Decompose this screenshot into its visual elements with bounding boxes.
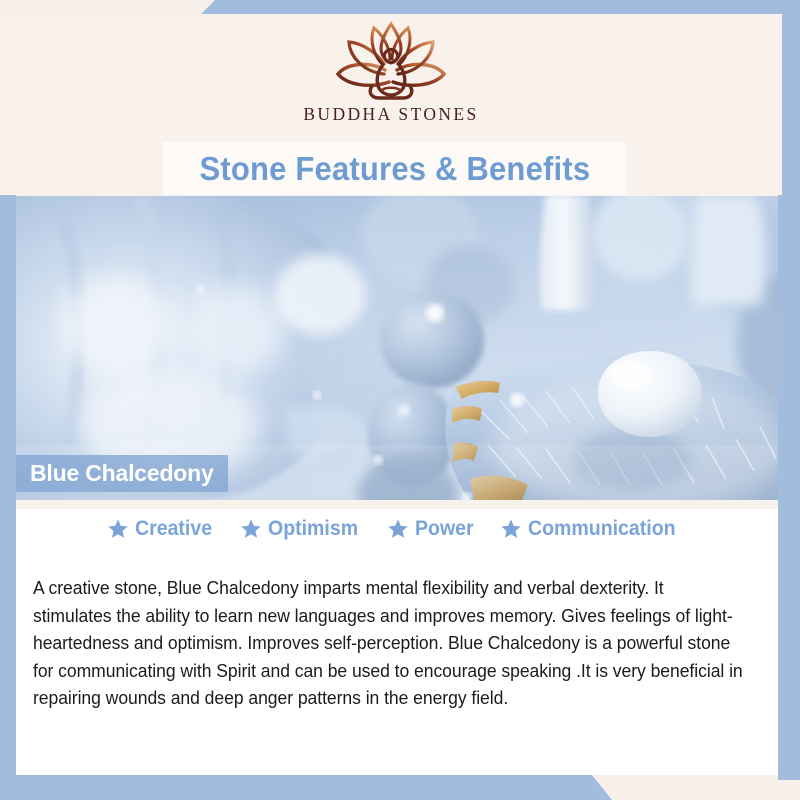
feature-label: Power [415, 517, 474, 541]
features-row: Creative Optimism Power Communication [16, 517, 778, 541]
feature-item-communication: Communication [500, 517, 687, 541]
photo-caption: Blue Chalcedony [30, 460, 214, 487]
right-accent-border [778, 195, 800, 780]
hero-photo: Blue Chalcedony [0, 195, 800, 500]
left-accent-border [0, 195, 16, 780]
feature-label: Optimism [268, 517, 358, 541]
star-icon [240, 518, 262, 540]
star-icon [387, 518, 409, 540]
lotus-meditation-icon [316, 16, 466, 102]
bottom-cream-corner [592, 775, 800, 800]
brand-name: BUDDHA STONES [303, 104, 478, 125]
brand-logo: BUDDHA STONES [0, 16, 782, 138]
stone-description: A creative stone, Blue Chalcedony impart… [33, 575, 743, 713]
page-title-band: Stone Features & Benefits [163, 142, 626, 195]
feature-label: Communication [528, 517, 676, 541]
feature-item-optimism: Optimism [240, 517, 365, 541]
page-title: Stone Features & Benefits [199, 150, 590, 188]
star-icon [107, 518, 129, 540]
feature-item-power: Power [387, 517, 478, 541]
feature-item-creative: Creative [107, 517, 218, 541]
photo-caption-band: Blue Chalcedony [16, 455, 228, 492]
star-icon [500, 518, 522, 540]
right-accent-border-top [782, 14, 800, 196]
feature-label: Creative [135, 517, 212, 541]
infographic-page: BUDDHA STONES Stone Features & Benefits [0, 0, 800, 800]
content-card: Creative Optimism Power Communication [16, 500, 778, 775]
card-top-tint [16, 500, 778, 509]
